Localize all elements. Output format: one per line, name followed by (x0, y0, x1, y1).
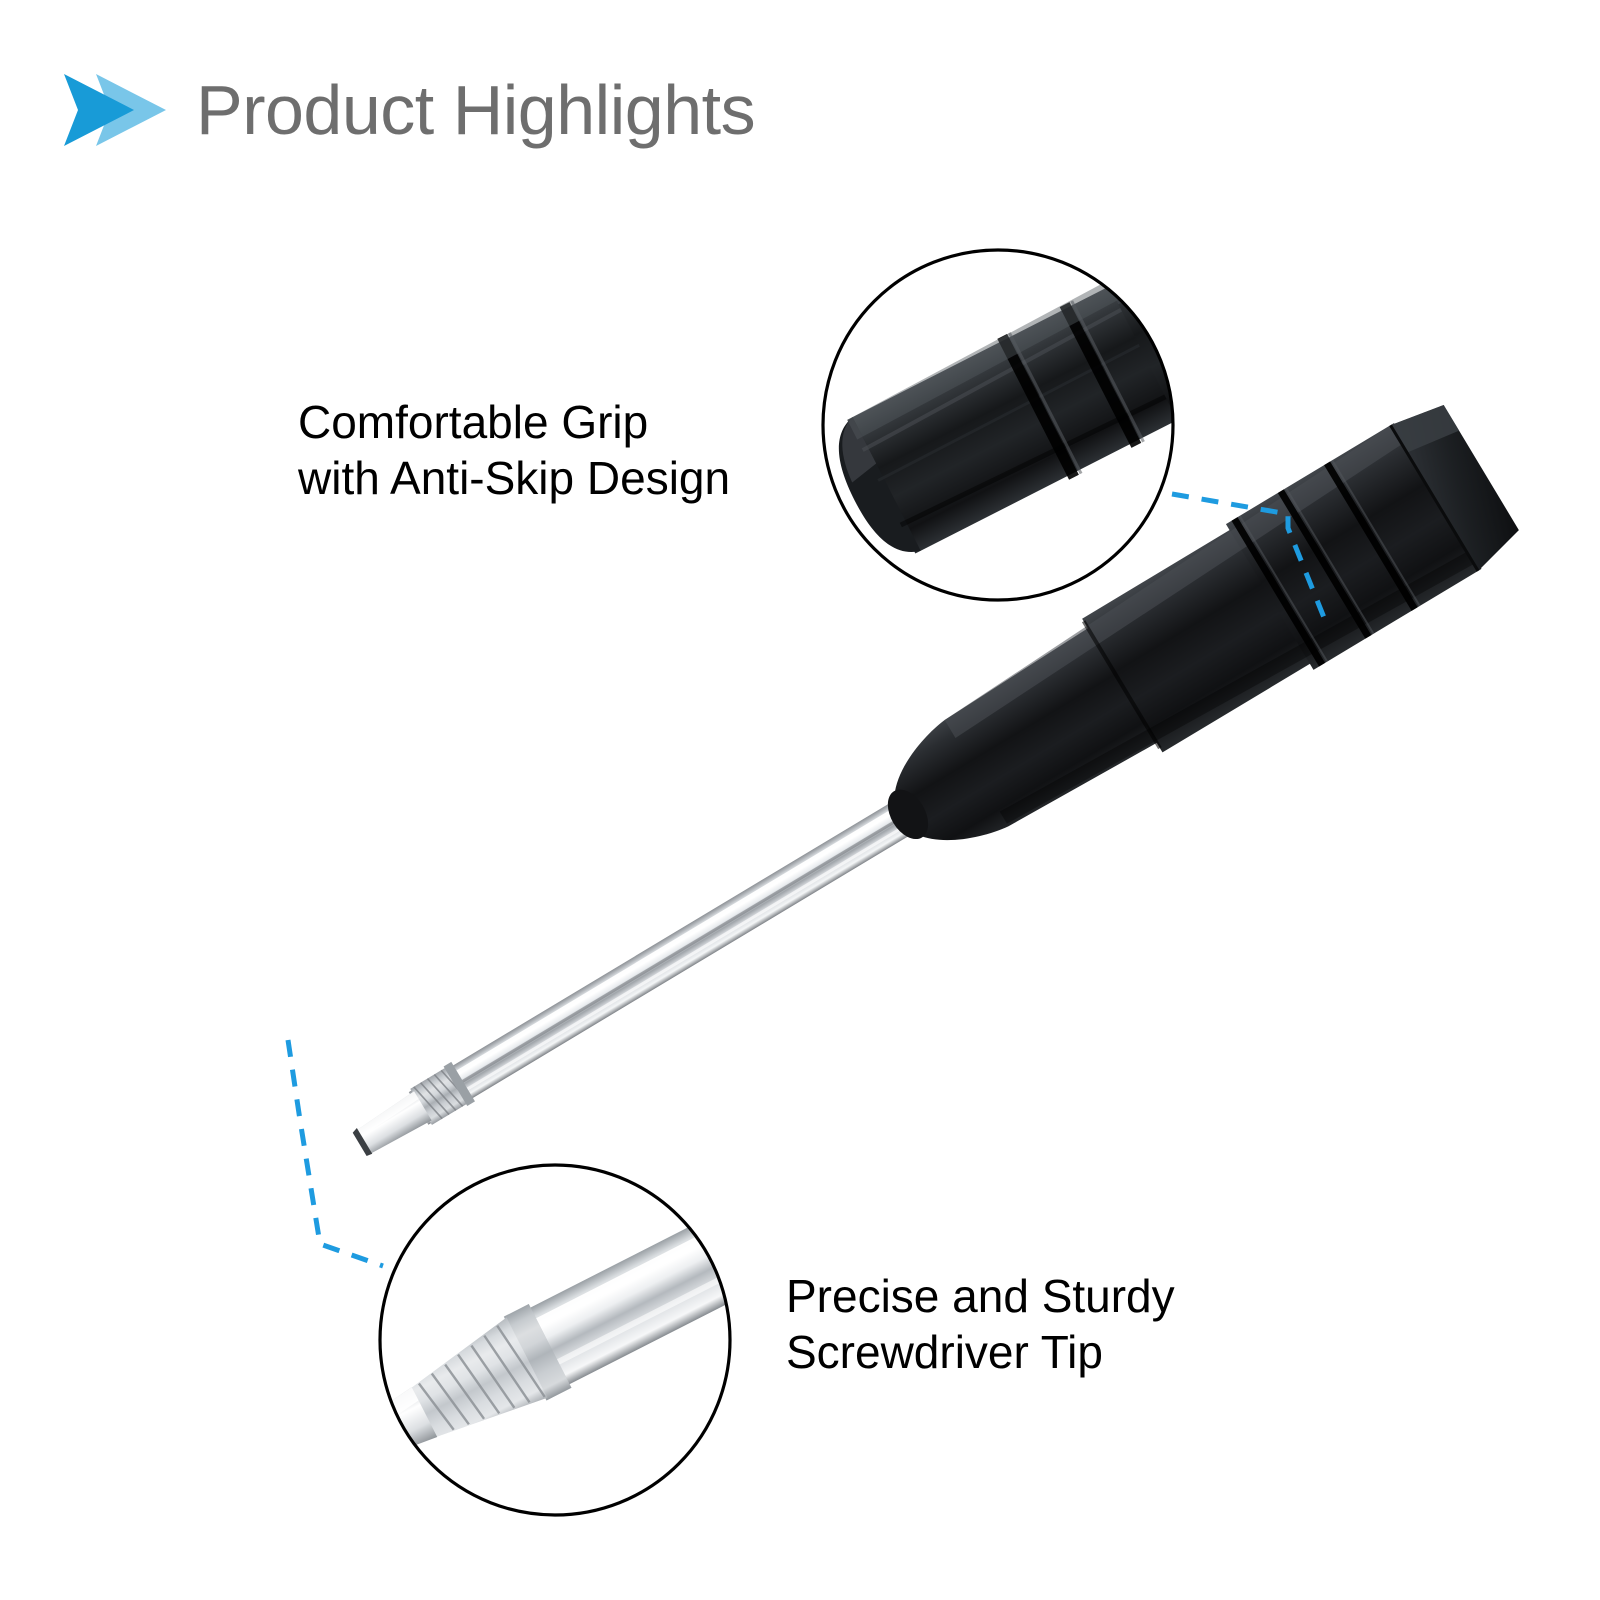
callout-tip-line1: Precise and Sturdy (786, 1268, 1175, 1324)
product-highlights-infographic: Product Highlights Comfortable Grip with… (0, 0, 1600, 1600)
callout-tip-line2: Screwdriver Tip (786, 1324, 1175, 1380)
callout-label-grip: Comfortable Grip with Anti-Skip Design (298, 394, 730, 506)
callout-grip-line1: Comfortable Grip (298, 394, 730, 450)
screwdriver-shaft (409, 804, 909, 1125)
header: Product Highlights (62, 68, 755, 152)
page-title: Product Highlights (196, 75, 755, 145)
zoom-circle-tip (304, 1160, 854, 1518)
screwdriver-blade-tip (351, 1091, 432, 1158)
double-chevron-arrow-icon (62, 68, 174, 152)
callout-grip-line2: with Anti-Skip Design (298, 450, 730, 506)
callout-label-tip: Precise and Sturdy Screwdriver Tip (786, 1268, 1175, 1380)
